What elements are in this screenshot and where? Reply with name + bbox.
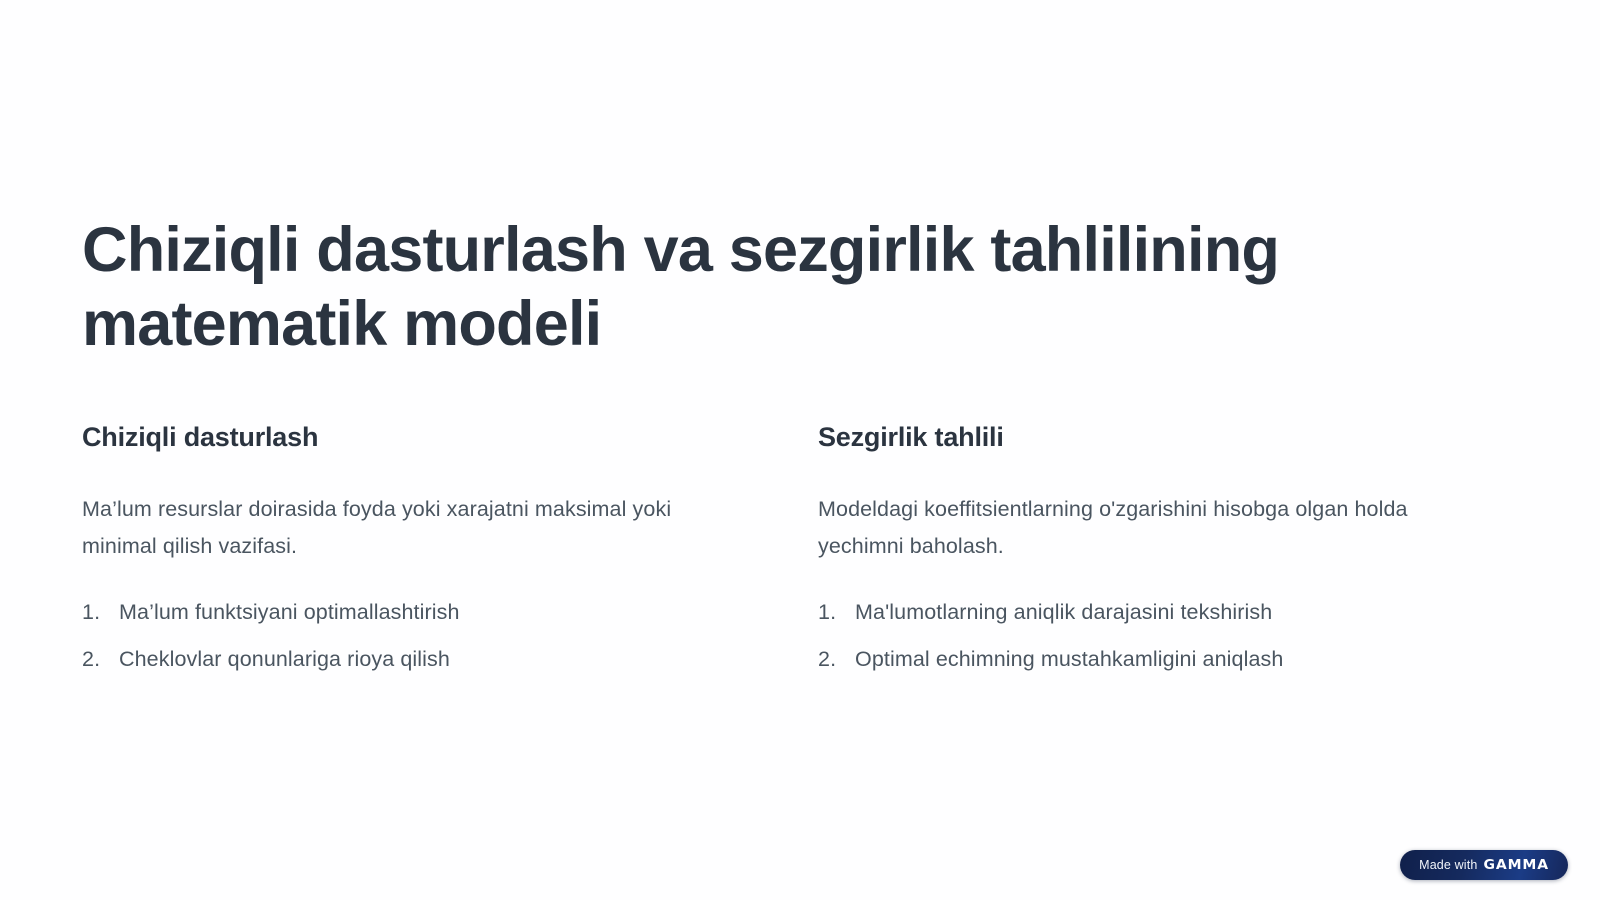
column-heading-left: Chiziqli dasturlash (82, 420, 746, 455)
column-list-right: Ma'lumotlarning aniqlik darajasini teksh… (818, 595, 1482, 677)
list-item: Cheklovlar qonunlariga rioya qilish (82, 642, 746, 676)
column-body-right: Modeldagi koeffitsientlarning o'zgarishi… (818, 491, 1482, 565)
badge-prefix-label: Made with (1419, 858, 1477, 872)
list-item: Ma’lum funktsiyani optimallashtirish (82, 595, 746, 629)
column-heading-right: Sezgirlik tahlili (818, 420, 1482, 455)
column-body-left: Ma’lum resurslar doirasida foyda yoki xa… (82, 491, 746, 565)
content-columns: Chiziqli dasturlash Ma’lum resurslar doi… (82, 420, 1482, 690)
made-with-gamma-badge[interactable]: Made with GAMMA (1400, 850, 1568, 880)
badge-brand-label: GAMMA (1483, 857, 1549, 872)
column-chiziqli-dasturlash: Chiziqli dasturlash Ma’lum resurslar doi… (82, 420, 746, 690)
list-item: Optimal echimning mustahkamligini aniqla… (818, 642, 1482, 676)
column-list-left: Ma’lum funktsiyani optimallashtirish Che… (82, 595, 746, 677)
list-item: Ma'lumotlarning aniqlik darajasini teksh… (818, 595, 1482, 629)
slide-canvas: Chiziqli dasturlash va sezgirlik tahlili… (0, 0, 1600, 900)
column-sezgirlik-tahlili: Sezgirlik tahlili Modeldagi koeffitsient… (818, 420, 1482, 690)
page-title: Chiziqli dasturlash va sezgirlik tahlili… (82, 213, 1372, 362)
